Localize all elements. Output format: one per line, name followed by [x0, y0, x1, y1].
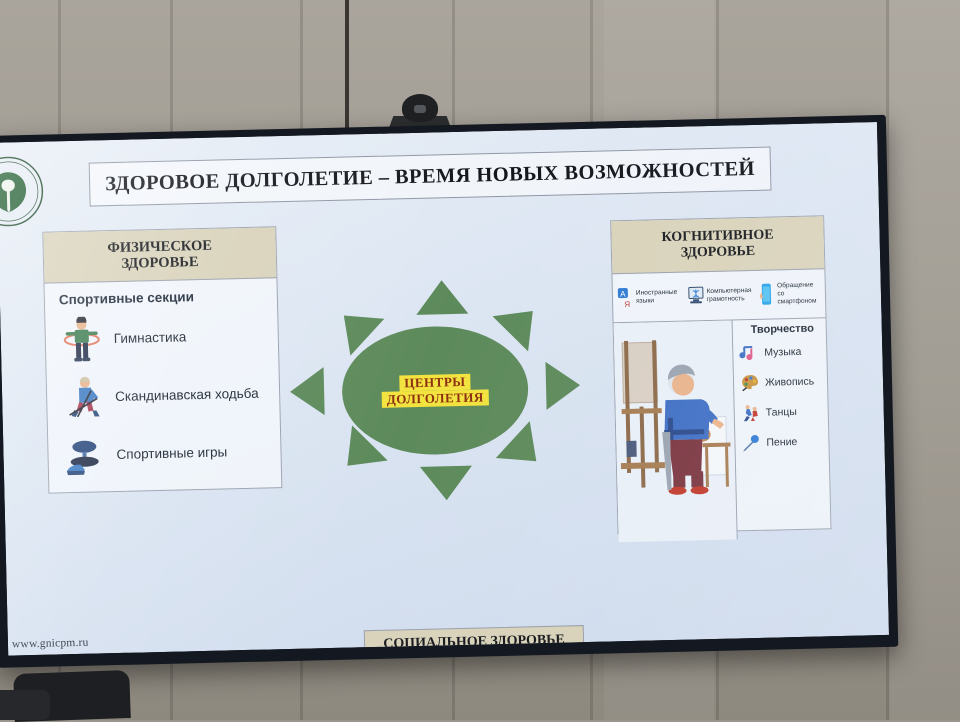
list-item: Живопись	[740, 366, 828, 398]
list-item-label: Музыка	[764, 346, 801, 359]
center-label-line2: ДОЛГОЛЕТИЯ	[382, 389, 489, 407]
nordic-walking-icon	[61, 374, 106, 421]
svg-text:Я: Я	[624, 300, 630, 309]
svg-text:A: A	[620, 289, 626, 298]
physical-header-line2: ЗДОРОВЬЕ	[121, 254, 198, 272]
list-item-label: Спортивные игры	[116, 444, 227, 463]
list-item: A Я Иностранные языки	[612, 273, 684, 323]
music-notes-icon	[739, 343, 759, 363]
presentation-slide: ЗДОРОВОЕ ДОЛГОЛЕТИЕ – ВРЕМЯ НОВЫХ ВОЗМОЖ…	[0, 122, 889, 656]
nmic-pm-logo	[0, 154, 46, 230]
computer-icon	[687, 284, 704, 308]
label-line1: Обращение	[777, 282, 813, 290]
arrow-down-icon	[420, 466, 473, 501]
label-line1: Иностранные	[636, 289, 678, 297]
webcam-lens	[414, 105, 426, 113]
chair-silhouette	[0, 690, 50, 720]
list-item-label: Скандинавская ходьба	[115, 386, 259, 405]
creativity-section: Творчество Музыка	[733, 318, 831, 539]
cognitive-health-card: КОГНИТИВНОЕ ЗДОРОВЬЕ A Я Иностранные язы…	[610, 215, 831, 534]
list-item-label: Живопись	[765, 376, 814, 389]
paint-palette-icon	[740, 373, 760, 393]
cognitive-health-header: КОГНИТИВНОЕ ЗДОРОВЬЕ	[611, 216, 824, 274]
arrow-up-right-icon	[493, 293, 551, 351]
center-label: ЦЕНТРЫ ДОЛГОЛЕТИЯ	[381, 373, 489, 407]
dancers-icon	[741, 403, 761, 423]
cognitive-body: Творчество Музыка	[614, 318, 831, 542]
label-line2: со смартфоном	[777, 290, 816, 305]
list-item-label: Танцы	[766, 406, 797, 419]
list-item-label: Гимнастика	[114, 329, 187, 347]
page-title: ЗДОРОВОЕ ДОЛГОЛЕТИЕ – ВРЕМЯ НОВЫХ ВОЗМОЖ…	[105, 157, 755, 195]
arrow-right-icon	[545, 361, 580, 410]
translate-icon: A Я	[617, 286, 634, 310]
cognitive-header-line2: ЗДОРОВЬЕ	[681, 244, 756, 261]
centers-of-longevity-diagram: ЦЕНТРЫ ДОЛГОЛЕТИЯ	[288, 277, 583, 504]
label-line2: грамотность	[707, 295, 745, 303]
cognitive-icon-row: A Я Иностранные языки	[612, 269, 825, 323]
physical-health-header: ФИЗИЧЕСКОЕ ЗДОРОВЬЕ	[43, 227, 276, 283]
arrow-left-icon	[290, 367, 325, 416]
list-item: Обращение со смартфоном	[754, 269, 826, 319]
center-oval: ЦЕНТРЫ ДОЛГОЛЕТИЯ	[341, 324, 530, 456]
list-item: Гимнастика	[45, 306, 278, 369]
center-label-line1: ЦЕНТРЫ	[399, 374, 471, 392]
list-item: Компьютерная грамотность	[683, 271, 755, 321]
label-line2: языки	[636, 297, 654, 304]
list-item: Спортивные игры	[48, 422, 281, 485]
list-item-label: Иностранные языки	[636, 289, 678, 306]
ceiling-cable	[345, 0, 349, 140]
social-health-header: СОЦИАЛЬНОЕ ЗДОРОВЬЕ	[364, 625, 585, 656]
display-panel: ЗДОРОВОЕ ДОЛГОЛЕТИЕ – ВРЕМЯ НОВЫХ ВОЗМОЖ…	[0, 122, 889, 656]
list-item: Пение	[741, 426, 829, 458]
microphone-icon	[741, 433, 761, 453]
slide-title-box: ЗДОРОВОЕ ДОЛГОЛЕТИЕ – ВРЕМЯ НОВЫХ ВОЗМОЖ…	[89, 147, 772, 207]
wall-display: ЗДОРОВОЕ ДОЛГОЛЕТИЕ – ВРЕМЯ НОВЫХ ВОЗМОЖ…	[0, 115, 898, 668]
label-line1: Компьютерная	[706, 287, 751, 295]
list-item: Музыка	[739, 336, 827, 368]
list-item-label: Пение	[766, 436, 797, 449]
list-item-label: Компьютерная грамотность	[706, 287, 751, 304]
smartphone-icon	[758, 282, 775, 306]
watermark: www.gnicpm.ru	[12, 637, 89, 651]
list-item: Танцы	[740, 396, 828, 428]
arrow-up-icon	[416, 280, 469, 315]
physical-health-card: ФИЗИЧЕСКОЕ ЗДОРОВЬЕ Спортивные секции	[42, 226, 282, 493]
wall-highlight	[890, 0, 960, 720]
hula-hoop-icon	[59, 316, 104, 363]
cognitive-header-line1: КОГНИТИВНОЕ	[661, 228, 773, 246]
list-item: Скандинавская ходьба	[47, 364, 280, 427]
list-item-label: Обращение со смартфоном	[777, 281, 823, 306]
elderly-artist-at-easel-illustration	[614, 320, 738, 542]
sports-equipment-icon	[62, 432, 107, 479]
